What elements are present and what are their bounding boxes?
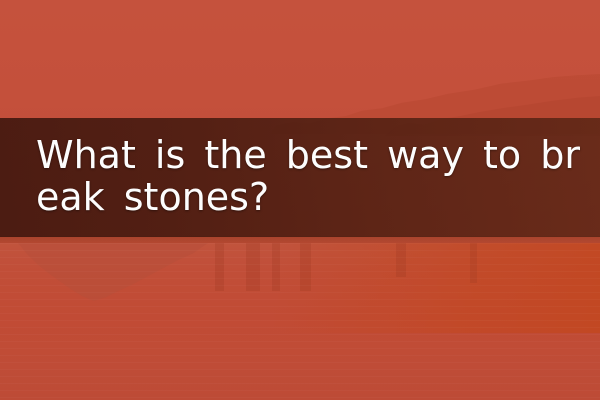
caption-band: What is the best way to break stones? xyxy=(0,118,600,237)
image-card: What is the best way to break stones? xyxy=(0,0,600,400)
caption-text: What is the best way to break stones? xyxy=(0,118,600,218)
water-ripples xyxy=(0,243,600,400)
